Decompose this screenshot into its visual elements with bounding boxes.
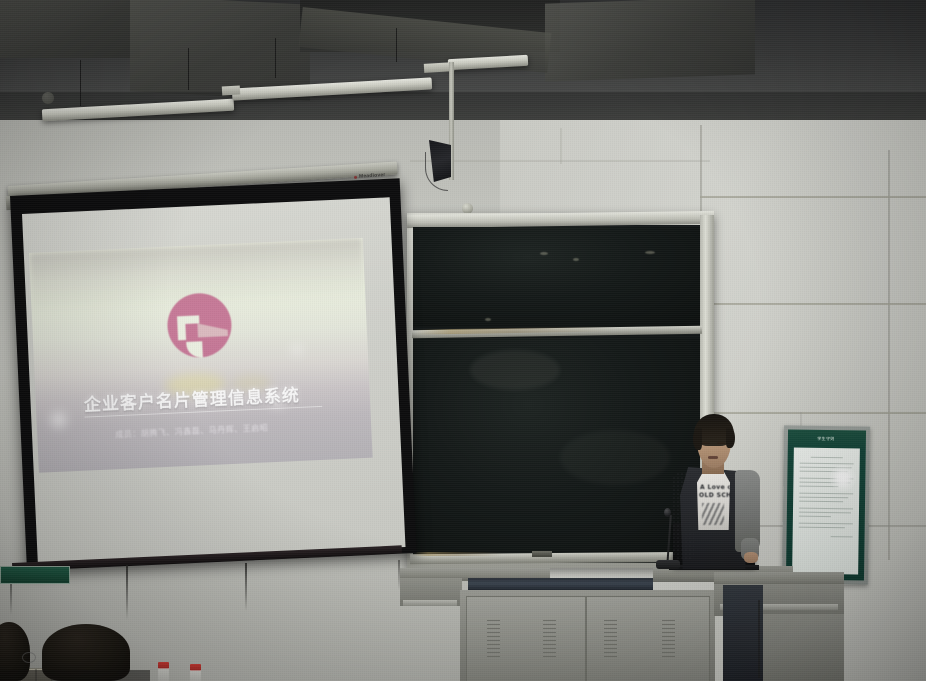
wall-tile-line (700, 303, 926, 305)
blackboard-panel-upper (413, 227, 700, 327)
blackboard-chalk-mark (645, 251, 655, 254)
camera-flash-glare (830, 465, 856, 491)
notice-text-line (831, 536, 853, 537)
slide-title: 企业客户名片管理信息系统 (83, 381, 300, 416)
vent-slot (662, 620, 675, 621)
vent-slot (487, 656, 500, 657)
lamp-wire (396, 28, 397, 62)
blackboard-chalk-mark (573, 258, 579, 261)
vent-slot (662, 648, 675, 649)
vent-slot (487, 640, 500, 641)
vent-slot (487, 644, 500, 645)
bottle-body (190, 670, 201, 681)
notice-text-line (799, 493, 853, 495)
vent-slot (662, 624, 675, 625)
company-logo-icon (166, 292, 233, 359)
vent-slot (604, 628, 617, 629)
foreground-desk-shadow (0, 670, 150, 681)
presenter-hand (744, 552, 758, 563)
presenter-mouth (708, 456, 718, 459)
brand-dot-icon (354, 175, 357, 178)
wall-tile-line (700, 412, 926, 414)
vent-slot (604, 636, 617, 637)
vent-slot (662, 632, 675, 633)
vent-slot (662, 652, 675, 653)
podium-right-leg (762, 614, 844, 681)
podium-vent-group (662, 620, 675, 657)
chalk-eraser (532, 551, 552, 557)
vent-slot (487, 636, 500, 637)
notice-text-line (800, 463, 854, 465)
blackboard-smudge (470, 350, 560, 390)
logo-notch-shape (177, 316, 186, 340)
classroom-presentation-photo: Meadlover 企业客户名片管理信息系统 成员：胡腾飞、冯鑫磊、马丹辉、王启… (0, 0, 926, 681)
wall-cable-streak (245, 563, 247, 611)
presenter-eye-right (717, 442, 725, 444)
vent-slot (604, 632, 617, 633)
podium-vent-group (487, 620, 500, 657)
podium-vent-group (604, 620, 617, 657)
microphone-base (656, 560, 680, 569)
notice-header-label: 学生守则 (817, 436, 834, 442)
vent-slot (543, 620, 556, 621)
lamp-wire (275, 38, 276, 78)
blackboard-tray-chalk-dust (412, 552, 502, 556)
vent-slot (662, 656, 675, 657)
wall-tile-line (560, 128, 562, 164)
vent-slot (487, 620, 500, 621)
lamp-wire (80, 60, 81, 106)
microphone-head-icon (664, 508, 671, 517)
notice-text-line (799, 512, 851, 514)
wall-tile-line (700, 196, 926, 198)
slide-subtitle: 成员：胡腾飞、冯鑫磊、马丹辉、王启昭 (115, 422, 268, 440)
vent-slot (543, 640, 556, 641)
vent-slot (604, 624, 617, 625)
notice-text-line (799, 501, 843, 503)
vent-slot (543, 644, 556, 645)
vent-slot (543, 628, 556, 629)
vent-slot (543, 652, 556, 653)
presenter-legs (723, 585, 763, 681)
vent-slot (543, 624, 556, 625)
presenter-hair-side (693, 428, 702, 450)
lamp-joint-1 (222, 86, 240, 96)
lamp-wire (188, 48, 189, 90)
presenter-hair-side (726, 428, 735, 448)
vent-slot (604, 620, 617, 621)
presenter-left-sleeve (672, 472, 694, 560)
vent-slot (604, 648, 617, 649)
vent-slot (662, 640, 675, 641)
vent-slot (604, 656, 617, 657)
vent-slot (487, 648, 500, 649)
audience-glasses (22, 652, 36, 663)
wall-cable-streak (126, 565, 128, 620)
notice-text-line (799, 527, 845, 529)
wall-fixture-dot (42, 92, 54, 104)
blackboard-chalk-mark (485, 318, 491, 321)
vent-slot (604, 644, 617, 645)
presenter-leg-cable-shadow (758, 600, 760, 678)
podium-drawer-left (403, 600, 457, 606)
bottle-body (158, 668, 169, 681)
notice-text-line (811, 457, 843, 458)
blackboard-chalk-mark (540, 252, 548, 255)
ceiling-panel-right (545, 0, 755, 82)
vent-slot (487, 624, 500, 625)
wall-green-sign (0, 566, 70, 584)
presenter-shirt-graphic (702, 503, 724, 525)
notice-text-line (799, 497, 848, 499)
slide-lens-flare (50, 411, 67, 428)
notice-text-line (799, 523, 853, 525)
notice-board-header: 学生守则 (790, 432, 862, 445)
presenter-shirt-print-line1: A Love of (700, 484, 730, 491)
podium-vent-group (543, 620, 556, 657)
slide-lens-flare (291, 345, 301, 355)
vent-slot (543, 656, 556, 657)
vent-slot (543, 632, 556, 633)
vent-slot (662, 628, 675, 629)
vent-slot (662, 644, 675, 645)
notice-text-line (799, 508, 853, 510)
presenter-eye-left (702, 442, 710, 444)
presenter-shirt-print-line2: OLD SCHOOL (699, 492, 731, 499)
vent-slot (662, 636, 675, 637)
podium-control-panel (468, 578, 653, 590)
vent-slot (543, 648, 556, 649)
podium-door-left[interactable] (466, 596, 586, 681)
vent-slot (487, 652, 500, 653)
vent-slot (487, 628, 500, 629)
presentation-slide: 企业客户名片管理信息系统 成员：胡腾飞、冯鑫磊、马丹辉、王启昭 (29, 238, 373, 473)
vent-slot (604, 640, 617, 641)
vent-slot (604, 652, 617, 653)
vent-slot (543, 636, 556, 637)
vent-slot (487, 632, 500, 633)
wall-tile-line (888, 150, 890, 560)
blackboard-smudge (560, 430, 670, 485)
notice-text-line (799, 516, 831, 517)
ceiling-panel-left (0, 0, 140, 58)
